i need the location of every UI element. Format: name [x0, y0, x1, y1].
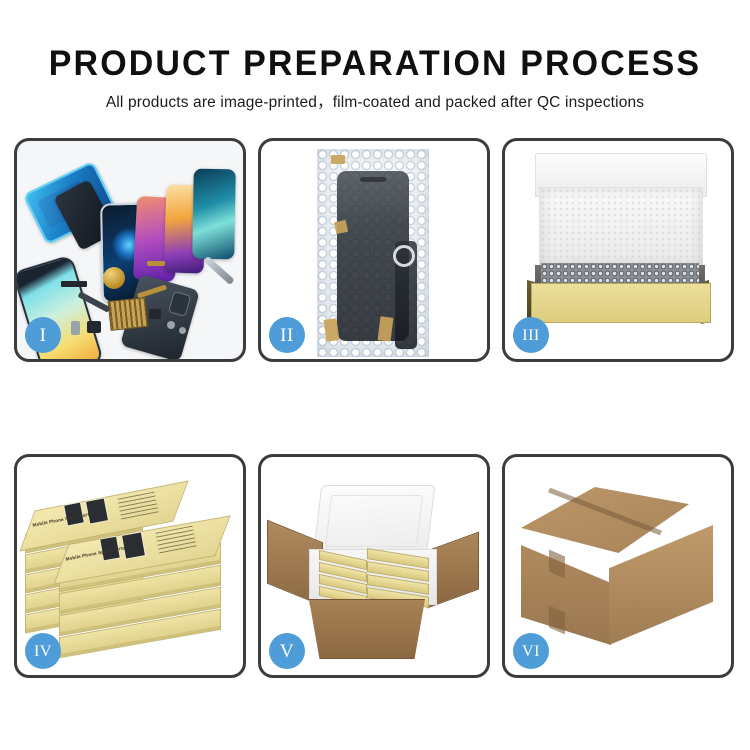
step-badge-4: IV [25, 633, 61, 669]
small-part-icon [61, 281, 87, 287]
step-badge-6: VI [513, 633, 549, 669]
sim-tray-icon [71, 321, 80, 335]
yellow-box-front-icon [531, 283, 711, 323]
logic-board-icon [108, 297, 149, 331]
gold-connector-icon [147, 261, 165, 266]
carton-top-face-icon [521, 487, 689, 553]
page-title: PRODUCT PREPARATION PROCESS [11, 0, 739, 84]
step-badge-1: I [25, 317, 61, 353]
step-badge-2: II [269, 317, 305, 353]
process-step-panel-4[interactable]: Mobile Phone Spare Parts Mobile Phone Sp… [14, 454, 246, 678]
box-window-icon [121, 531, 146, 559]
process-step-panel-1[interactable]: I [14, 138, 246, 362]
camera-module-icon [87, 321, 101, 333]
vibration-motor-icon [149, 309, 161, 319]
process-step-panel-3[interactable]: III [502, 138, 734, 362]
tape-piece-icon [334, 220, 348, 234]
process-step-grid: I II [14, 138, 736, 700]
carton-front-icon [301, 599, 433, 659]
tape-piece-icon [331, 155, 345, 164]
step-badge-5: V [269, 633, 305, 669]
product-preparation-process-page: PRODUCT PREPARATION PROCESS All products… [0, 0, 750, 750]
page-subtitle: All products are image-printed，film-coat… [0, 84, 750, 112]
process-step-panel-6[interactable]: VI [502, 454, 734, 678]
screw-icon [179, 327, 186, 334]
teal-phone-icon [192, 169, 236, 260]
process-step-panel-2[interactable]: II [258, 138, 490, 362]
step-badge-3: III [513, 317, 549, 353]
screw-icon [167, 321, 175, 329]
white-foam-sheet-icon [539, 187, 703, 267]
screwdriver-icon [203, 256, 234, 285]
foam-box-lid-icon [313, 485, 436, 557]
carton-left-face-icon [521, 545, 611, 645]
process-step-panel-5[interactable]: V [258, 454, 490, 678]
speaker-part-icon [103, 267, 125, 289]
cable-coil-icon [393, 245, 415, 267]
page-header: PRODUCT PREPARATION PROCESS All products… [0, 0, 750, 112]
